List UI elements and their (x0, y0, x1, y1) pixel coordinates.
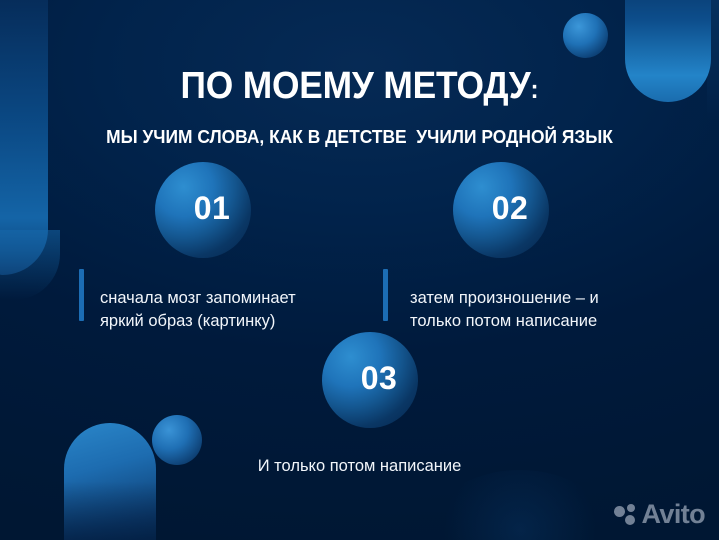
step-number-bubble-02: 02 (453, 162, 549, 258)
step-number-bubble-03: 03 (322, 332, 418, 428)
step-accent-bar-02 (383, 269, 388, 321)
step-number-label-01: 01 (194, 190, 231, 227)
slide-title-colon: : (531, 74, 539, 104)
slide-canvas: ПО МОЕМУ МЕТОДУ: МЫ УЧИМ СЛОВА, КАК В ДЕ… (0, 0, 719, 540)
step-number-bubble-01: 01 (155, 162, 251, 258)
decor-circle-top-right (563, 13, 608, 58)
step-description-02: затем произношение – и только потом напи… (410, 287, 670, 334)
decor-glow-bottom (430, 470, 610, 540)
decor-left-fade-shape (0, 230, 60, 300)
slide-subtitle: МЫ УЧИМ СЛОВА, КАК В ДЕТСТВЕ УЧИЛИ РОДНО… (22, 128, 698, 147)
step-number-label-03: 03 (361, 360, 398, 397)
step-accent-bar-01 (79, 269, 84, 321)
avito-dots-icon (614, 504, 637, 526)
decor-arch-shape (64, 423, 156, 540)
slide-title: ПО МОЕМУ МЕТОДУ: (25, 67, 694, 105)
avito-watermark: Avito (614, 501, 706, 528)
step-description-03: И только потом написание (0, 455, 719, 478)
avito-wordmark: Avito (642, 501, 706, 528)
decor-right-edge-shape (707, 0, 719, 120)
step-description-01: сначала мозг запоминает яркий образ (кар… (100, 287, 360, 334)
step-number-label-02: 02 (492, 190, 529, 227)
slide-title-text: ПО МОЕМУ МЕТОДУ (181, 65, 531, 107)
